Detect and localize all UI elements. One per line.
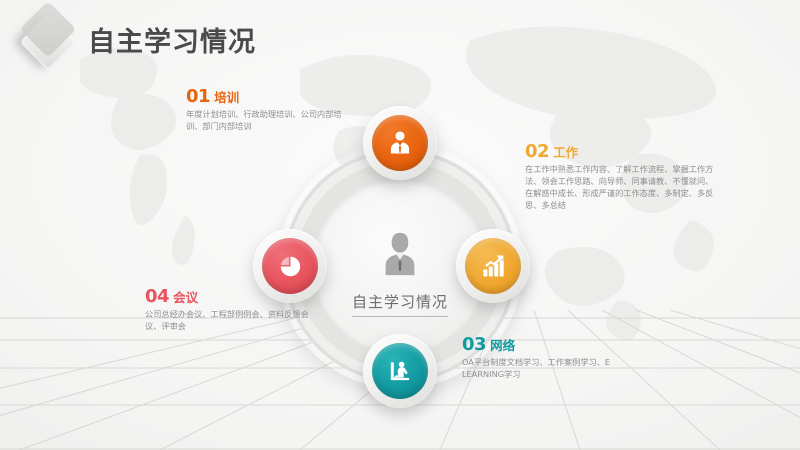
node-training-disc xyxy=(372,115,428,171)
page-title: 自主学习情况 xyxy=(88,20,256,59)
slide-canvas: 自主学习情况 自主学习情况 xyxy=(0,0,800,450)
block-work-body: 在工作中熟悉工作内容、了解工作流程、掌握工作方法、领会工作思路、向导师、同事请教… xyxy=(525,164,715,212)
block-meeting-heading: 04会议 xyxy=(145,288,315,306)
node-network-disc xyxy=(372,343,428,399)
bar-chart-growth-icon xyxy=(479,252,507,280)
slide-header: 自主学习情况 xyxy=(0,0,800,72)
node-training[interactable] xyxy=(363,106,437,180)
diamond-icon xyxy=(20,14,77,71)
block-network-number: 03 xyxy=(462,334,486,355)
block-work-heading: 02工作 xyxy=(525,143,715,161)
block-training: 01培训 年度计划培训、行政助理培训、公司内部培训、部门内部培训 xyxy=(186,88,346,133)
block-meeting-number: 04 xyxy=(145,286,169,307)
person-avatar-icon xyxy=(377,231,423,282)
node-work-disc xyxy=(465,238,521,294)
block-training-heading: 01培训 xyxy=(186,88,346,106)
node-work[interactable] xyxy=(456,229,530,303)
node-meeting-disc xyxy=(262,238,318,294)
block-network-name: 网络 xyxy=(490,338,515,353)
block-network: 03网络 OA平台制度文档学习、工作案例学习、E LEARNING学习 xyxy=(462,336,642,381)
pie-chart-icon xyxy=(277,253,304,280)
block-network-heading: 03网络 xyxy=(462,336,642,354)
block-network-body: OA平台制度文档学习、工作案例学习、E LEARNING学习 xyxy=(462,357,642,381)
center-label: 自主学习情况 xyxy=(352,291,448,317)
person-at-desk-icon xyxy=(386,357,414,385)
block-meeting: 04会议 公司总经办会议、工程部例例会、资料反馈会议、评审会 xyxy=(145,288,315,333)
block-meeting-name: 会议 xyxy=(173,290,198,305)
block-training-body: 年度计划培训、行政助理培训、公司内部培训、部门内部培训 xyxy=(186,109,346,133)
node-network[interactable] xyxy=(363,334,437,408)
block-work-number: 02 xyxy=(525,141,549,162)
block-meeting-body: 公司总经办会议、工程部例例会、资料反馈会议、评审会 xyxy=(145,309,315,333)
block-work-name: 工作 xyxy=(553,145,578,160)
block-training-number: 01 xyxy=(186,86,210,107)
block-work: 02工作 在工作中熟悉工作内容、了解工作流程、掌握工作方法、领会工作思路、向导师… xyxy=(525,143,715,212)
block-training-name: 培训 xyxy=(214,90,239,105)
user-tie-icon xyxy=(386,129,414,157)
